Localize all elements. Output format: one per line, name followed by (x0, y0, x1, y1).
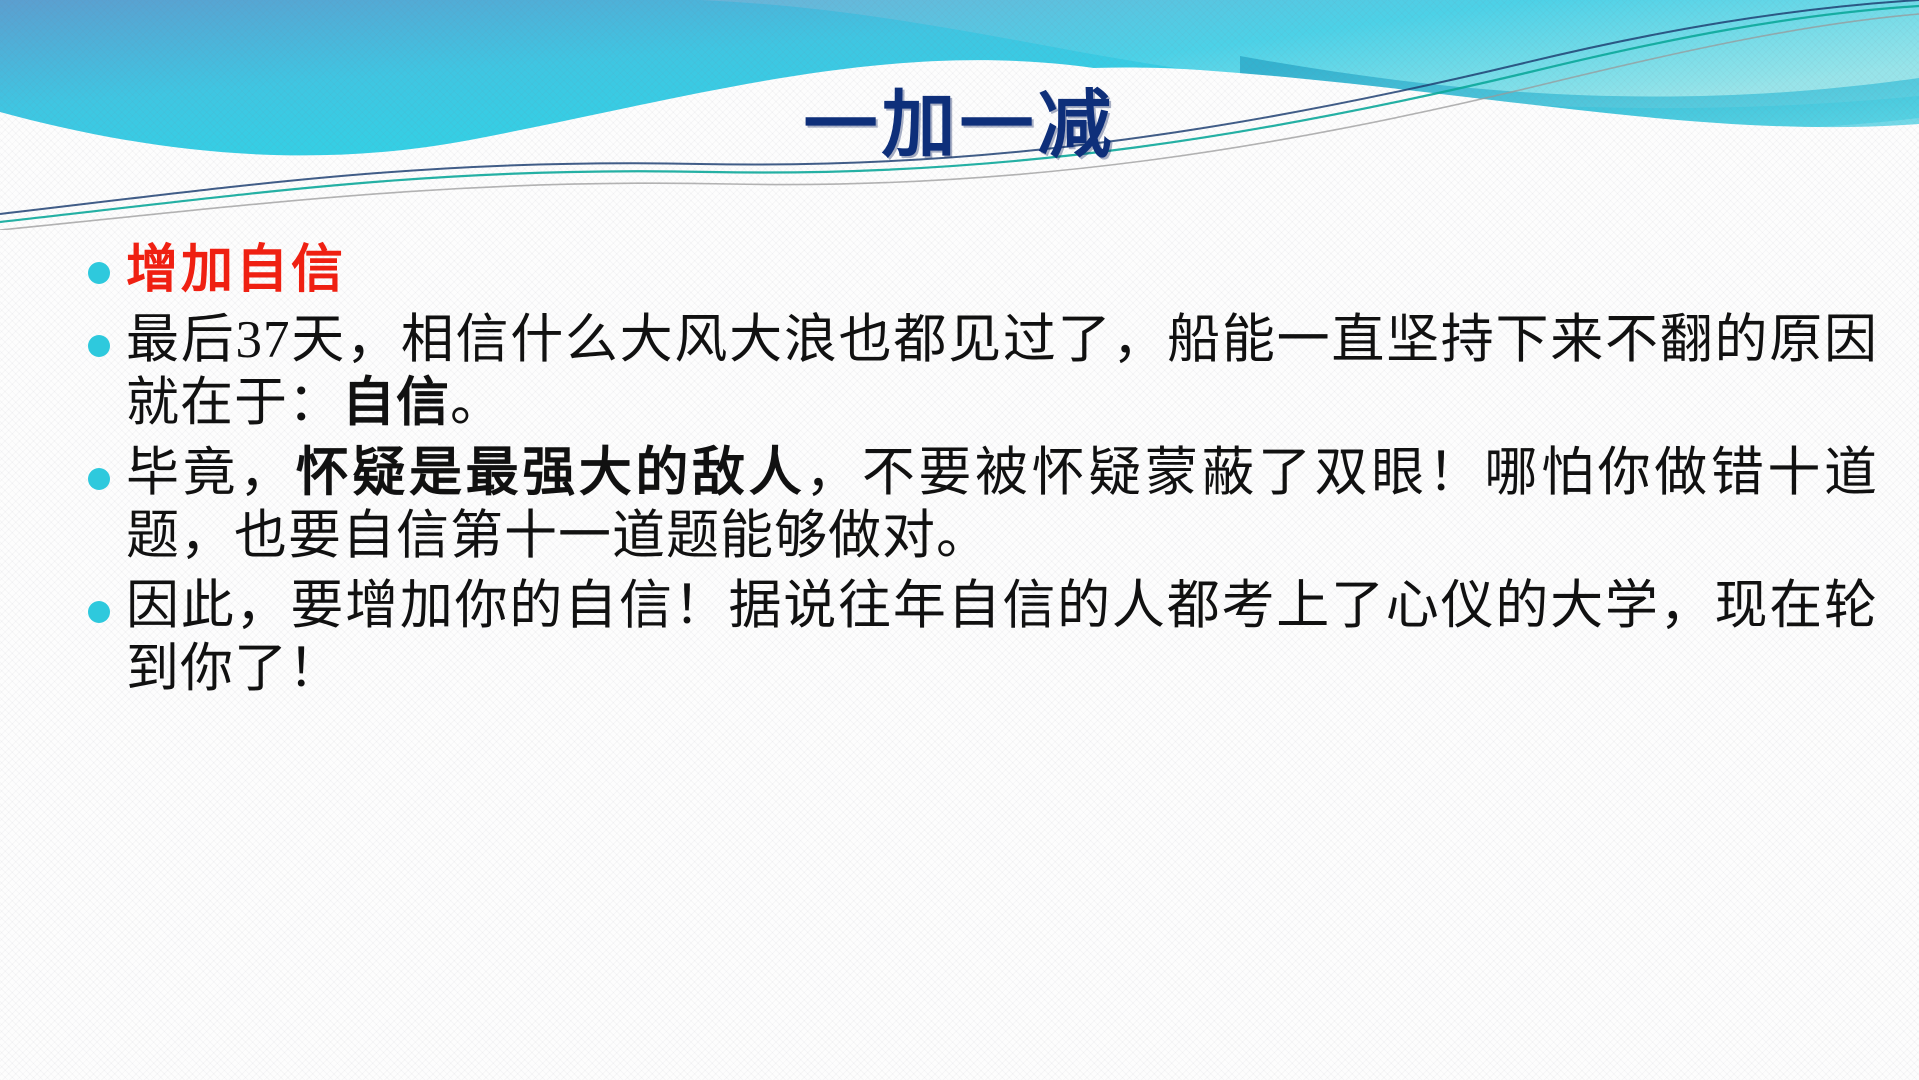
list-item: 最后37天，相信什么大风大浪也都见过了，船能一直坚持下来不翻的原因就在于：自信。 (88, 309, 1878, 434)
bullet-dot-icon (88, 601, 110, 623)
bullet-dot-icon (88, 468, 110, 490)
bullet-text-2: 最后37天，相信什么大风大浪也都见过了，船能一直坚持下来不翻的原因就在于：自信。 (126, 309, 1878, 434)
slide-body: 增加自信 最后37天，相信什么大风大浪也都见过了，船能一直坚持下来不翻的原因就在… (88, 240, 1878, 709)
list-item: 增加自信 (88, 240, 1878, 301)
presentation-slide: 一加一减 增加自信 最后37天，相信什么大风大浪也都见过了，船能一直坚持下来不翻… (0, 0, 1919, 1080)
list-item: 毕竟，怀疑是最强大的敌人，不要被怀疑蒙蔽了双眼！哪怕你做错十道题，也要自信第十一… (88, 442, 1878, 567)
bullet-dot-icon (88, 262, 110, 284)
bullet-text-4: 因此，要增加你的自信！据说往年自信的人都考上了心仪的大学，现在轮到你了！ (126, 575, 1878, 700)
slide-title: 一加一减 (0, 88, 1919, 162)
bullet-text-3: 毕竟，怀疑是最强大的敌人，不要被怀疑蒙蔽了双眼！哪怕你做错十道题，也要自信第十一… (126, 442, 1878, 567)
list-item: 因此，要增加你的自信！据说往年自信的人都考上了心仪的大学，现在轮到你了！ (88, 575, 1878, 700)
bullet-text-1: 增加自信 (126, 240, 1878, 301)
bullet-dot-icon (88, 335, 110, 357)
